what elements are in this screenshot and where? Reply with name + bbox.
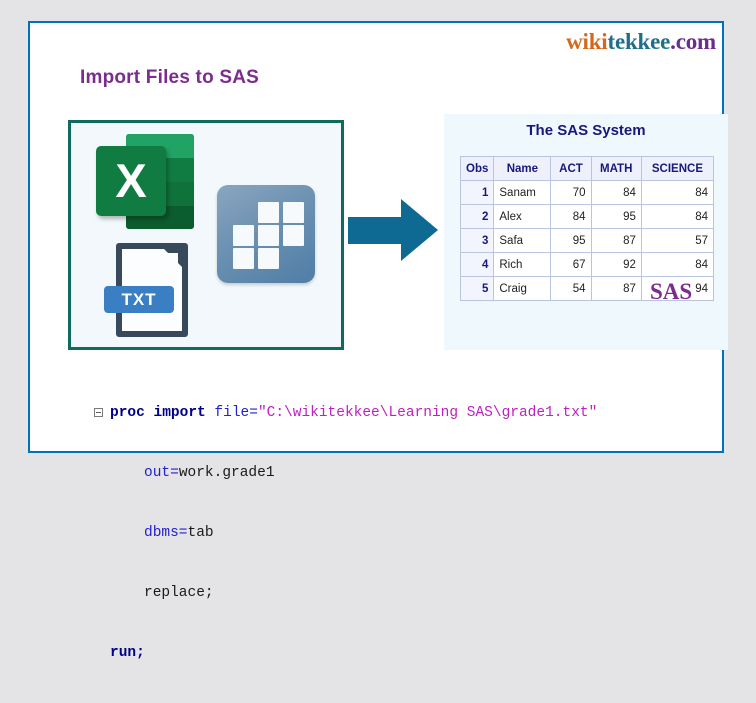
cell-math: 92 xyxy=(591,253,641,277)
cell-name: Craig xyxy=(494,277,551,301)
site-logo[interactable]: wikitekkee.com xyxy=(566,29,716,55)
cell-name: Alex xyxy=(494,205,551,229)
cell-obs: 3 xyxy=(461,229,494,253)
cell-name: Sanam xyxy=(494,181,551,205)
code-line-5: run; xyxy=(68,643,708,663)
table-header-row: Obs Name ACT MATH SCIENCE xyxy=(461,157,714,181)
column-header-act: ACT xyxy=(551,157,591,181)
grid-cell xyxy=(233,248,254,269)
code-line-2: out=work.grade1 xyxy=(68,463,708,483)
grid-cell xyxy=(258,202,279,223)
code-line-1: proc import file="C:\wikitekkee\Learning… xyxy=(68,403,708,423)
grid-cell xyxy=(258,225,279,246)
source-files-panel: X TXT xyxy=(68,120,344,350)
excel-file-icon: X xyxy=(96,132,196,229)
cell-science: 94 xyxy=(641,277,713,301)
cell-math: 87 xyxy=(591,277,641,301)
logo-part-tekkee: tekkee xyxy=(607,29,670,54)
cell-science: 57 xyxy=(641,229,713,253)
grid-cell xyxy=(283,202,304,223)
sas-output-title: The SAS System xyxy=(444,122,728,139)
cell-math: 95 xyxy=(591,205,641,229)
content-card: wikitekkee.com Import Files to SAS X xyxy=(28,21,724,453)
excel-icon-letter: X xyxy=(96,146,166,216)
code-value-replace: replace; xyxy=(144,585,214,601)
cell-obs: 4 xyxy=(461,253,494,277)
code-keyword-run: run; xyxy=(110,645,145,661)
code-string-path: "C:\wikitekkee\Learning SAS\grade1.txt" xyxy=(258,405,597,421)
code-value-dbms: tab xyxy=(188,525,214,541)
cell-name: Safa xyxy=(494,229,551,253)
cell-name: Rich xyxy=(494,253,551,277)
grid-cell xyxy=(233,225,254,246)
sas-code-block: proc import file="C:\wikitekkee\Learning… xyxy=(68,363,708,703)
arrow-shaft xyxy=(348,217,404,244)
table-row: 3 Safa 95 87 57 xyxy=(461,229,714,253)
cell-act: 54 xyxy=(551,277,591,301)
table-row: 2 Alex 84 95 84 xyxy=(461,205,714,229)
code-keyword-proc: proc import xyxy=(110,405,214,421)
dataset-grid-icon xyxy=(217,185,315,283)
table-row: 4 Rich 67 92 84 xyxy=(461,253,714,277)
cell-obs: 2 xyxy=(461,205,494,229)
table-row: 1 Sanam 70 84 84 xyxy=(461,181,714,205)
code-line-4: replace; xyxy=(68,583,708,603)
txt-icon-label: TXT xyxy=(104,286,174,313)
code-value-out: work.grade1 xyxy=(179,465,275,481)
cell-science: 84 xyxy=(641,205,713,229)
cell-obs: 5 xyxy=(461,277,494,301)
code-option-file: file= xyxy=(214,405,258,421)
page-title: Import Files to SAS xyxy=(80,67,259,89)
cell-act: 70 xyxy=(551,181,591,205)
cell-math: 84 xyxy=(591,181,641,205)
arrow-head xyxy=(401,199,438,261)
cell-act: 95 xyxy=(551,229,591,253)
column-header-math: MATH xyxy=(591,157,641,181)
cell-act: 84 xyxy=(551,205,591,229)
cell-science: 84 xyxy=(641,253,713,277)
code-option-out: out= xyxy=(144,465,179,481)
column-header-obs: Obs xyxy=(461,157,494,181)
txt-file-icon: TXT xyxy=(104,241,200,341)
import-arrow-icon xyxy=(348,199,438,261)
column-header-name: Name xyxy=(494,157,551,181)
excel-icon-tile: X xyxy=(96,146,166,216)
screenshot-root: wikitekkee.com Import Files to SAS X xyxy=(0,0,756,480)
logo-part-wiki: wiki xyxy=(566,29,607,54)
collapse-fold-icon[interactable] xyxy=(94,408,103,417)
cell-science: 84 xyxy=(641,181,713,205)
cell-act: 67 xyxy=(551,253,591,277)
cell-obs: 1 xyxy=(461,181,494,205)
table-row: 5 Craig 54 87 94 xyxy=(461,277,714,301)
sas-results-table: Obs Name ACT MATH SCIENCE 1 Sanam 70 84 … xyxy=(460,156,714,301)
sas-output-panel: The SAS System Obs Name ACT MATH SCIENCE… xyxy=(444,114,728,350)
logo-part-com: com xyxy=(676,29,716,54)
grid-cell xyxy=(283,225,304,246)
code-option-dbms: dbms= xyxy=(144,525,188,541)
grid-cell xyxy=(258,248,279,269)
column-header-science: SCIENCE xyxy=(641,157,713,181)
txt-icon-corner-inner xyxy=(166,253,178,265)
code-line-3: dbms=tab xyxy=(68,523,708,543)
cell-math: 87 xyxy=(591,229,641,253)
